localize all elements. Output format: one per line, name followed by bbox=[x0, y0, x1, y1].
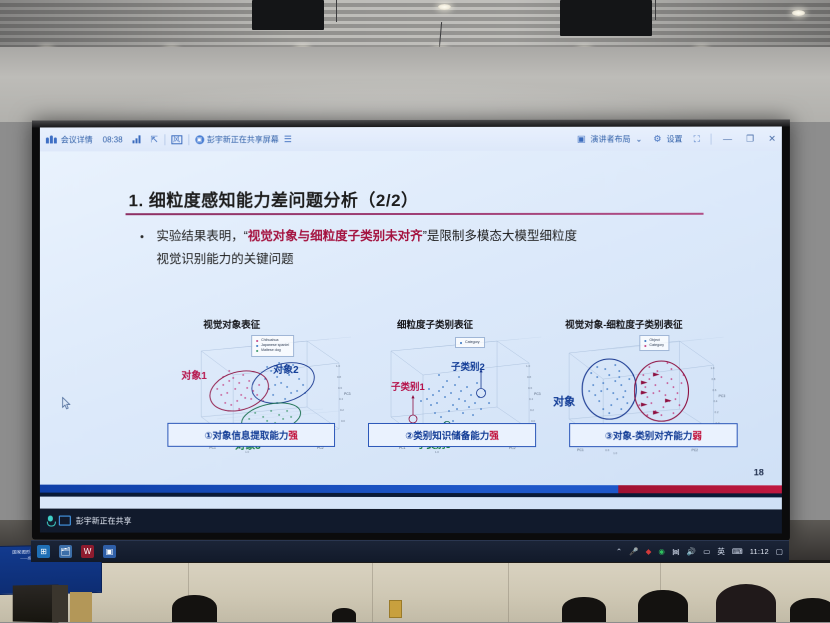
conclusion-1-emphasis: 强 bbox=[288, 428, 298, 442]
conclusion-2-emphasis: 强 bbox=[489, 428, 499, 442]
wall-light-glow bbox=[0, 47, 830, 122]
maximize-button[interactable]: ❐ bbox=[746, 133, 754, 144]
wifi-icon[interactable]: ᯼ bbox=[672, 547, 680, 557]
display-content: 会议详情 08:38 ⇱ 风 ▣ 彭宇新正在共享屏幕 ☰ ▣ 演讲者布局 ⌄ ⚙… bbox=[40, 127, 782, 534]
speaker-layout-label[interactable]: 演讲者布局 bbox=[590, 133, 630, 144]
ceiling-shading bbox=[0, 0, 830, 47]
meeting-app-toolbar: 会议详情 08:38 ⇱ 风 ▣ 彭宇新正在共享屏幕 ☰ ▣ 演讲者布局 ⌄ ⚙… bbox=[40, 127, 782, 152]
screen-icon[interactable] bbox=[59, 516, 71, 526]
plot-3-axis-pc1: PC1 bbox=[577, 448, 584, 452]
bottombar-sharing-text: 彭宇新正在共享 bbox=[76, 515, 132, 526]
antivirus-icon[interactable]: ◆ bbox=[646, 547, 652, 556]
wall-seam-3 bbox=[508, 563, 509, 622]
svg-text:0.2: 0.2 bbox=[530, 408, 534, 412]
signal-bars-icon[interactable] bbox=[133, 135, 141, 143]
legend-label: Maltese dog bbox=[261, 348, 281, 353]
taskbar-icon-group: ⊞ 🗂 W ▣ bbox=[37, 545, 116, 558]
conclusion-box-1: ①对象信息提取能力强 bbox=[167, 423, 335, 447]
legend-dot-icon bbox=[256, 340, 258, 342]
plot-2-annotation-2: 子类别2 bbox=[451, 359, 485, 373]
legend-label: Category bbox=[465, 340, 480, 345]
svg-text:1.0: 1.0 bbox=[711, 366, 715, 370]
bullet-text-after: ”是限制多模态大模型细粒度 bbox=[423, 229, 577, 243]
windows-taskbar: ⊞ 🗂 W ▣ ⌃ 🎤 ◆ ◉ ᯼ 🔊 ▭ 英 ⌨ 11:12 ▢ bbox=[31, 540, 789, 562]
svg-text:1.0: 1.0 bbox=[613, 451, 617, 455]
minimize-button[interactable]: — bbox=[723, 134, 732, 144]
bottom-wall bbox=[0, 563, 830, 622]
conclusion-2-prefix: ②类别知识储备能力 bbox=[405, 428, 489, 442]
svg-text:0.8: 0.8 bbox=[712, 377, 716, 381]
svg-text:0.2: 0.2 bbox=[340, 408, 344, 412]
ceiling-cable-1 bbox=[336, 0, 337, 22]
wps-icon[interactable]: W bbox=[81, 545, 94, 558]
svg-text:0.6: 0.6 bbox=[528, 386, 532, 390]
microphone-icon[interactable] bbox=[47, 516, 54, 526]
bullet-text-highlight: 视觉对象与细粒度子类别未对齐 bbox=[248, 229, 423, 243]
browser-icon[interactable]: ◉ bbox=[658, 547, 665, 556]
audience-head-1 bbox=[172, 595, 217, 622]
conclusion-3-prefix: ③对象-类别对齐能力 bbox=[605, 428, 692, 442]
bullet-marker bbox=[140, 235, 143, 238]
svg-text:0.8: 0.8 bbox=[337, 375, 341, 379]
plot-3-axis-pc2: PC2 bbox=[692, 448, 699, 452]
legend-item: Category bbox=[460, 340, 480, 345]
svg-text:0.0: 0.0 bbox=[341, 419, 345, 423]
legend-dot-icon bbox=[644, 340, 646, 342]
meeting-duration: 08:38 bbox=[103, 135, 123, 144]
ime-indicator[interactable]: 英 bbox=[717, 546, 725, 557]
taskbar-clock[interactable]: 11:12 bbox=[750, 547, 769, 556]
legend-item: Maltese dog bbox=[256, 348, 289, 353]
bullet-line-2: 视觉识别能力的关键问题 bbox=[156, 248, 293, 267]
meeting-app-bottombar: 彭宇新正在共享 bbox=[40, 509, 782, 534]
share-external-icon[interactable]: ⇱ bbox=[150, 135, 158, 144]
presentation-slide: 1. 细粒度感知能力差问题分析（2/2） 实验结果表明，“视觉对象与细粒度子类别… bbox=[40, 151, 782, 510]
meeting-app-icon[interactable]: ▣ bbox=[103, 545, 116, 558]
ceiling-cable-3 bbox=[655, 0, 656, 20]
file-explorer-icon[interactable]: 🗂 bbox=[59, 545, 72, 558]
conclusion-1-prefix: ①对象信息提取能力 bbox=[205, 428, 289, 442]
slide-page-number: 18 bbox=[754, 467, 764, 477]
legend-item: Category bbox=[644, 343, 664, 348]
svg-text:1.0: 1.0 bbox=[526, 364, 530, 368]
panel-heading-2: 细粒度子类别表征 bbox=[397, 317, 473, 331]
podium-side bbox=[52, 585, 68, 622]
conclusion-box-2: ②类别知识储备能力强 bbox=[368, 423, 536, 447]
plot-2-annotation-1: 子类别1 bbox=[391, 379, 425, 393]
legend-dot-icon bbox=[256, 350, 258, 352]
legend-label: Category bbox=[649, 343, 664, 348]
svg-text:0.4: 0.4 bbox=[529, 397, 533, 401]
start-icon[interactable]: ⊞ bbox=[37, 545, 50, 558]
ceiling-light-7 bbox=[438, 4, 451, 10]
plot-3-legend: Object Category bbox=[639, 335, 669, 351]
panel-heading-3: 视觉对象-细粒度子类别表征 bbox=[565, 317, 682, 331]
svg-text:0.8: 0.8 bbox=[605, 448, 609, 452]
plot-1-annotation-2: 对象2 bbox=[273, 361, 299, 376]
wall-seam-2 bbox=[372, 563, 373, 622]
settings-label[interactable]: 设置 bbox=[666, 133, 682, 144]
toolbar-right-group: ▣ 演讲者布局 ⌄ ⚙ 设置 ⛶ — ❐ ✕ bbox=[577, 133, 776, 144]
plot-1-axis-pc3: PC3 bbox=[344, 392, 351, 396]
close-button[interactable]: ✕ bbox=[768, 133, 776, 144]
svg-text:0.6: 0.6 bbox=[338, 386, 342, 390]
chevron-up-icon[interactable]: ⌃ bbox=[616, 547, 622, 556]
ceiling-light-8 bbox=[792, 10, 805, 16]
panel-heading-1: 视觉对象表征 bbox=[203, 317, 260, 331]
podium-box bbox=[70, 592, 92, 622]
audience-head-6 bbox=[790, 598, 830, 622]
gear-icon[interactable]: ⚙ bbox=[653, 134, 661, 143]
toolbar-divider-1 bbox=[164, 134, 165, 145]
fullscreen-icon[interactable]: ⛶ bbox=[694, 134, 700, 143]
system-tray: ⌃ 🎤 ◆ ◉ ᯼ 🔊 ▭ 英 ⌨ 11:12 ▢ bbox=[616, 546, 783, 557]
conclusion-box-3: ③对象-类别对齐能力弱 bbox=[569, 423, 738, 447]
plot-3-annotation-1: 对象 bbox=[553, 393, 575, 409]
keyboard-icon[interactable]: ⌨ bbox=[732, 547, 743, 556]
svg-text:1.0: 1.0 bbox=[336, 364, 340, 368]
plot-1-annotation-1: 对象1 bbox=[181, 367, 206, 382]
battery-icon[interactable]: ▭ bbox=[703, 547, 710, 556]
svg-text:0.2: 0.2 bbox=[715, 410, 719, 414]
svg-text:0.4: 0.4 bbox=[714, 399, 718, 403]
wall-outlet bbox=[389, 600, 402, 618]
audience-head-2 bbox=[332, 608, 356, 622]
audience-head-5 bbox=[716, 584, 776, 622]
plot-1-legend: Chihuahua Japanese spaniel Maltese dog bbox=[251, 335, 294, 357]
audience-head-4 bbox=[638, 590, 688, 622]
screen-share-icon: ▣ bbox=[195, 135, 204, 144]
layout-icon[interactable]: ▣ bbox=[577, 134, 586, 143]
slide-footer-bar-dark bbox=[40, 493, 782, 498]
plot-2-axis-pc3: PC3 bbox=[534, 392, 541, 396]
conclusion-3-emphasis: 弱 bbox=[692, 428, 702, 442]
meeting-detail-label[interactable]: 会议详情 bbox=[61, 134, 93, 145]
sharing-status-text: 彭宇新正在共享屏幕 bbox=[207, 134, 279, 145]
legend-dot-icon bbox=[460, 342, 462, 344]
bullet-line-1: 实验结果表明，“视觉对象与细粒度子类别未对齐”是限制多模态大模型细粒度 bbox=[156, 225, 577, 244]
audience-head-3 bbox=[562, 597, 606, 622]
chevron-down-icon[interactable]: ⌄ bbox=[636, 134, 643, 143]
app-icon[interactable]: 风 bbox=[171, 135, 182, 144]
bullet-text-before: 实验结果表明，“ bbox=[156, 229, 247, 243]
slide-title: 1. 细粒度感知能力差问题分析（2/2） bbox=[129, 186, 419, 211]
tray-microphone-icon[interactable]: 🎤 bbox=[629, 547, 638, 556]
legend-dot-icon bbox=[256, 345, 258, 347]
more-horizontal-icon[interactable]: ☰ bbox=[284, 135, 292, 144]
svg-text:0.4: 0.4 bbox=[339, 397, 343, 401]
volume-icon[interactable]: 🔊 bbox=[687, 547, 696, 556]
legend-dot-icon bbox=[644, 345, 646, 347]
toolbar-divider-2 bbox=[188, 134, 189, 145]
projection-display: 会议详情 08:38 ⇱ 风 ▣ 彭宇新正在共享屏幕 ☰ ▣ 演讲者布局 ⌄ ⚙… bbox=[32, 119, 790, 540]
hanging-screen-left bbox=[252, 0, 324, 30]
plot-3-axis-pc3: PC3 bbox=[719, 394, 726, 398]
svg-text:0.8: 0.8 bbox=[527, 375, 531, 379]
mouse-cursor bbox=[62, 397, 71, 410]
notification-icon[interactable]: ▢ bbox=[776, 547, 783, 556]
title-underline bbox=[126, 213, 704, 215]
app-logo-icon bbox=[46, 135, 57, 143]
hanging-screen-right bbox=[560, 0, 652, 36]
plot-2-legend: Category bbox=[455, 337, 485, 348]
toolbar-divider-3 bbox=[711, 133, 712, 144]
svg-text:0.6: 0.6 bbox=[713, 388, 717, 392]
